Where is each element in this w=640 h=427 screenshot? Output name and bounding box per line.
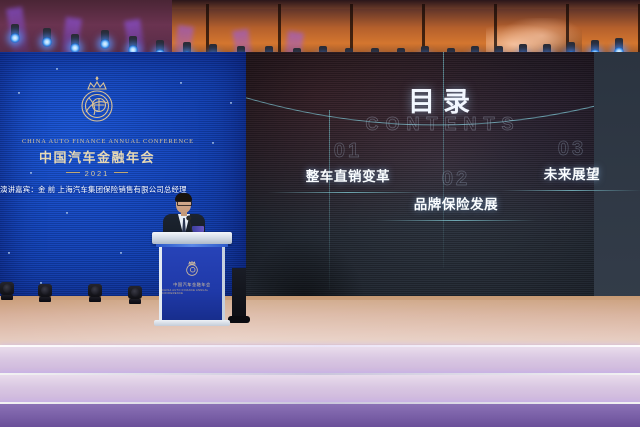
glasses-icon <box>177 201 192 206</box>
stage-moving-head-light <box>128 286 142 299</box>
moving-head-base <box>1 295 13 300</box>
screen-sparkle <box>180 82 182 84</box>
moving-head-base <box>129 299 141 304</box>
truss-spotlight <box>10 24 20 44</box>
podium-base <box>154 320 230 326</box>
stage-step-3 <box>0 404 640 427</box>
podium-english-title: CHINA AUTO FINANCE ANNUAL CONFERENCE <box>162 289 222 295</box>
crown-shield-emblem-icon <box>69 72 125 134</box>
page-subtitle: CONTENTS <box>246 114 640 135</box>
screen-sparkle <box>56 68 58 70</box>
agenda-item-1-number: 01 <box>268 140 428 163</box>
stage-moving-head-light <box>88 284 102 297</box>
stage-moving-head-light <box>38 284 52 297</box>
moving-head-housing <box>38 284 52 297</box>
moving-head-lens-icon <box>3 284 12 293</box>
crown-shield-emblem-icon <box>182 258 202 280</box>
stage-step-1 <box>0 347 640 373</box>
stage-floor-reflection <box>0 300 640 344</box>
moving-head-lens-icon <box>91 286 100 295</box>
podium-chinese-title: 中国汽车金融年会 <box>173 282 211 288</box>
moving-head-lens-icon <box>131 288 140 297</box>
agenda-item-3-rule <box>502 190 640 191</box>
screen-sparkle <box>18 92 20 94</box>
screen-sparkle <box>212 142 214 144</box>
agenda-item-2-rule <box>376 220 536 221</box>
screen-sparkle <box>120 252 122 254</box>
moving-head-base <box>89 297 101 302</box>
conference-year-value: 2021 <box>85 169 110 178</box>
moving-head-lens-icon <box>41 286 50 295</box>
moving-head-housing <box>88 284 102 297</box>
speaker-caption: 演讲嘉宾：金 前 上海汽车集团保险销售有限公司总经理 <box>0 184 236 195</box>
truss-spotlight <box>100 30 110 50</box>
truss-spotlight <box>70 34 80 54</box>
conference-logo-block: CHINA AUTO FINANCE ANNUAL CONFERENCE 中国汽… <box>22 72 172 178</box>
spotlight-lens-icon <box>10 33 20 43</box>
conference-stage-photo: CHINA AUTO FINANCE ANNUAL CONFERENCE 中国汽… <box>0 0 640 427</box>
screen-sparkle <box>230 102 232 104</box>
agenda-item-3-number: 03 <box>502 138 640 161</box>
truss-spotlight <box>42 28 52 48</box>
conference-english-title: CHINA AUTO FINANCE ANNUAL CONFERENCE <box>22 138 172 145</box>
stage-moving-head-light <box>0 282 14 295</box>
spotlight-lens-icon <box>100 39 110 49</box>
podium: 中国汽车金融年会 CHINA AUTO FINANCE ANNUAL CONFE… <box>152 232 232 326</box>
moving-head-housing <box>128 286 142 299</box>
speaker-legs <box>232 268 246 320</box>
spotlight-lens-icon <box>42 37 52 47</box>
agenda-item-2-label: 品牌保险发展 <box>376 193 536 213</box>
agenda-item-3: 03 未来展望 <box>502 138 640 191</box>
screen-sparkle <box>8 252 10 254</box>
stage-step-2 <box>0 375 640 402</box>
moving-head-housing <box>0 282 14 295</box>
speaker-shadow-on-screen <box>246 236 366 302</box>
podium-top-surface <box>152 232 232 244</box>
screen-sparkle <box>66 212 68 214</box>
conference-year: 2021 <box>22 169 172 178</box>
agenda-item-3-label: 未来展望 <box>502 163 640 183</box>
conference-chinese-title: 中国汽车金融年会 <box>22 147 172 166</box>
moving-head-base <box>39 297 51 302</box>
podium-front-panel: 中国汽车金融年会 CHINA AUTO FINANCE ANNUAL CONFE… <box>159 247 225 321</box>
